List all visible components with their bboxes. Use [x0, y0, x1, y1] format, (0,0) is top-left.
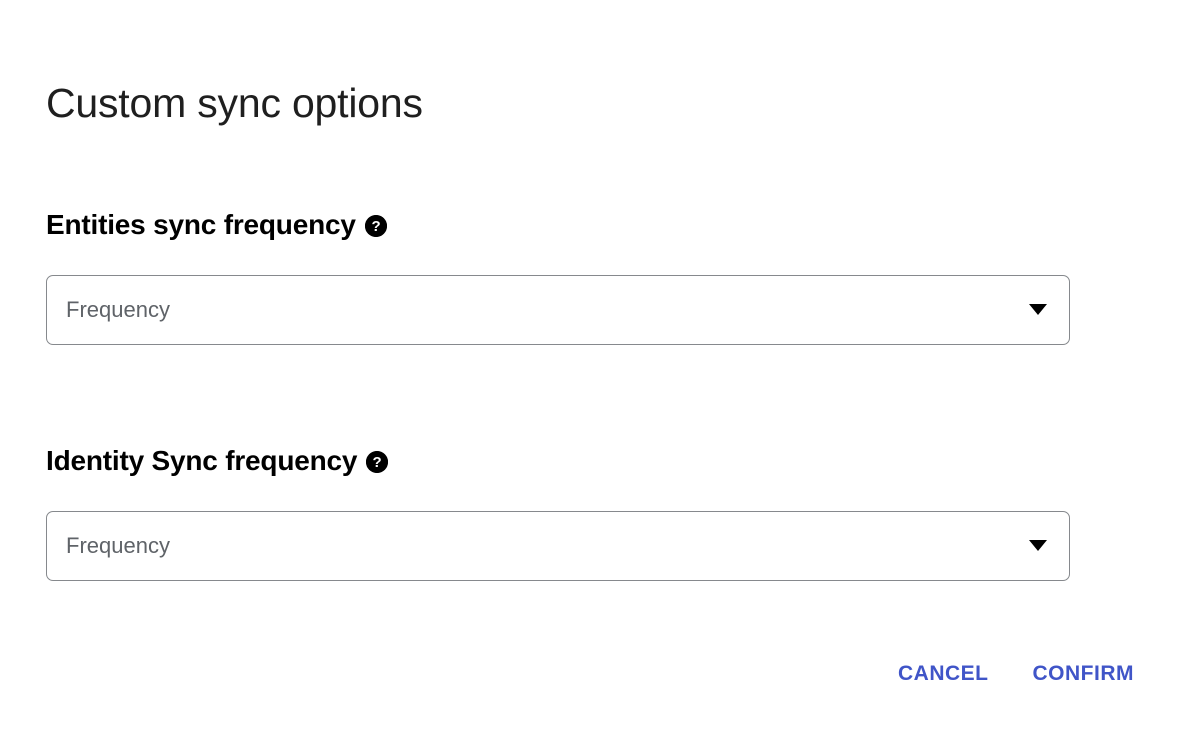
svg-text:?: ? — [371, 218, 380, 235]
custom-sync-options-dialog: Custom sync options Entities sync freque… — [0, 0, 1196, 741]
svg-text:?: ? — [373, 454, 382, 471]
entities-sync-frequency-label: Entities sync frequency ? — [46, 207, 1070, 243]
chevron-down-icon[interactable] — [1028, 300, 1048, 320]
entities-sync-frequency-select-value: Frequency — [66, 296, 170, 324]
identity-sync-frequency-select-value: Frequency — [66, 532, 170, 560]
identity-sync-frequency-field-group: Identity Sync frequency ? Frequency — [46, 443, 1070, 581]
identity-sync-frequency-select[interactable]: Frequency — [46, 511, 1070, 581]
identity-sync-frequency-label: Identity Sync frequency ? — [46, 443, 1070, 479]
chevron-down-icon[interactable] — [1028, 536, 1048, 556]
entities-sync-frequency-select[interactable]: Frequency — [46, 275, 1070, 345]
confirm-button[interactable]: CONFIRM — [1023, 655, 1145, 693]
dialog-actions: CANCEL CONFIRM — [888, 655, 1144, 693]
field-label-text: Identity Sync frequency — [46, 443, 357, 479]
page-title: Custom sync options — [46, 75, 423, 131]
help-question-icon[interactable]: ? — [365, 215, 387, 237]
cancel-button[interactable]: CANCEL — [888, 655, 999, 693]
field-label-text: Entities sync frequency — [46, 207, 356, 243]
entities-sync-frequency-field-group: Entities sync frequency ? Frequency — [46, 207, 1070, 345]
help-question-icon[interactable]: ? — [366, 451, 388, 473]
